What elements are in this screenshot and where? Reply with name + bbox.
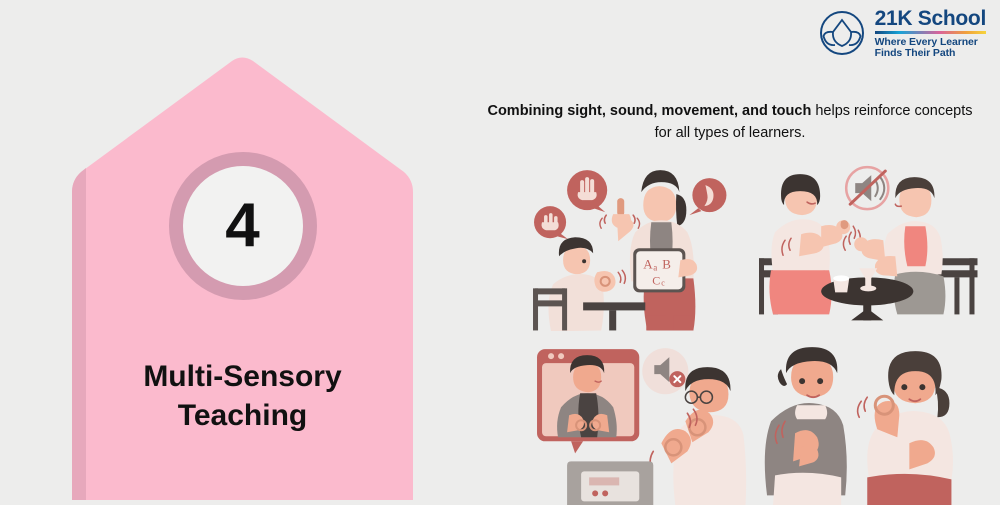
step-number-badge-inner: 4	[183, 166, 303, 286]
laptop	[567, 461, 653, 505]
illustration-video-call-sign-language	[525, 335, 751, 505]
brand-tagline-line1: Where Every Learner	[875, 37, 986, 48]
headline-text: Combining sight, sound, movement, and to…	[480, 100, 980, 145]
video-call-window	[537, 349, 639, 453]
alphabet-board: A a B C c	[633, 248, 685, 292]
svg-text:C: C	[652, 273, 660, 287]
illustration-grid: A a B C c	[525, 160, 980, 505]
pentagon-card: 4 Multi-Sensory Teaching	[72, 52, 413, 500]
sign-bubble-3	[689, 178, 726, 215]
lotus-circle-logo-icon	[819, 10, 865, 56]
svg-text:B: B	[662, 256, 671, 271]
svg-text:a: a	[653, 262, 657, 272]
brand-name: 21K School	[875, 8, 986, 29]
brand-gradient-rule	[875, 31, 986, 34]
svg-text:c: c	[661, 278, 665, 287]
muted-speaker-icon	[846, 167, 888, 209]
card-title: Multi-Sensory Teaching	[72, 357, 413, 435]
illustration-two-people-standing-signing	[755, 335, 981, 505]
brand-logo: 21K School Where Every Learner Finds The…	[819, 8, 986, 59]
pointing-hand	[612, 198, 631, 228]
sign-bubble-1	[567, 170, 607, 212]
muted-speaker-badge-icon	[642, 348, 688, 394]
ok-sign-hand	[594, 271, 615, 292]
step-number: 4	[225, 195, 259, 257]
svg-text:A: A	[643, 256, 653, 271]
brand-tagline-line2: Finds Their Path	[875, 48, 986, 59]
step-number-badge: 4	[169, 152, 317, 300]
illustration-teacher-sign-language-alphabet: A a B C c	[525, 160, 751, 331]
illustration-two-people-table-conversation	[755, 160, 981, 331]
sign-bubble-2	[534, 206, 568, 239]
headline-bold: Combining sight, sound, movement, and to…	[487, 103, 811, 119]
